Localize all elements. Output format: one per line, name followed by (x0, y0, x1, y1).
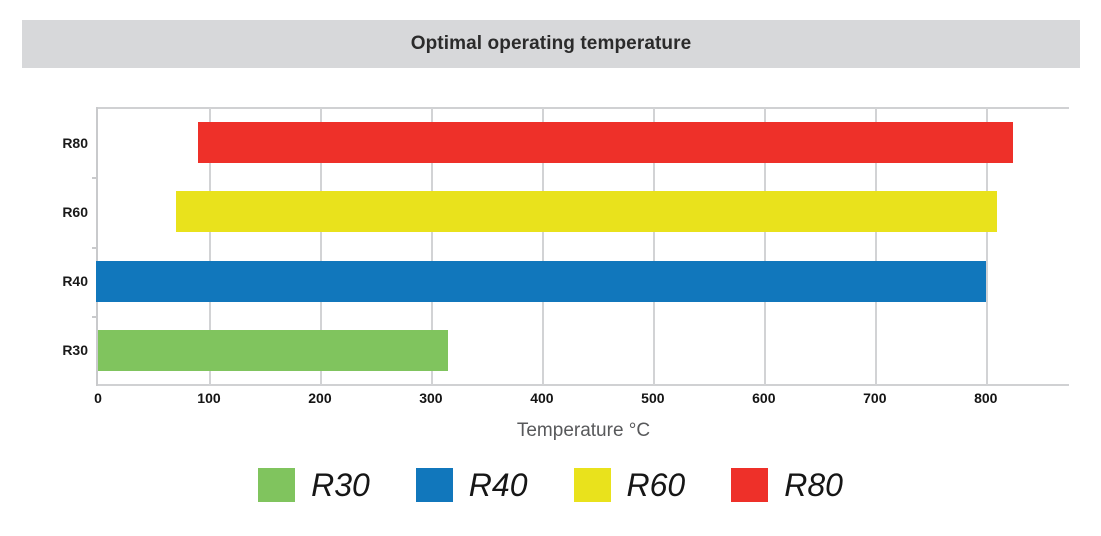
x-tick-label-400: 400 (530, 390, 553, 406)
legend-swatch-R60 (574, 468, 611, 502)
y-axis-tick (92, 177, 98, 179)
chart-title: Optimal operating temperature (411, 33, 692, 55)
x-tick-label-100: 100 (197, 390, 220, 406)
bar-chart: R80R60R40R30 0100200300400500600700800 T… (0, 68, 1101, 536)
legend-label-R30: R30 (311, 469, 370, 501)
y-axis-label-R60: R60 (0, 204, 88, 220)
legend-item-R60[interactable]: R60 (574, 468, 686, 502)
x-axis-title: Temperature °C (98, 420, 1069, 442)
x-tick-label-700: 700 (863, 390, 886, 406)
plot-area (98, 108, 1069, 385)
chart-legend: R30R40R60R80 (0, 468, 1101, 502)
legend-item-R40[interactable]: R40 (416, 468, 528, 502)
legend-swatch-R40 (416, 468, 453, 502)
x-tick-label-200: 200 (308, 390, 331, 406)
x-tick-label-0: 0 (94, 390, 102, 406)
x-tick-label-300: 300 (419, 390, 442, 406)
legend-item-R30[interactable]: R30 (258, 468, 370, 502)
bar-R30[interactable] (98, 330, 448, 371)
legend-label-R60: R60 (627, 469, 686, 501)
y-axis-category-labels: R80R60R40R30 (0, 108, 88, 385)
legend-swatch-R30 (258, 468, 295, 502)
chart-title-band: Optimal operating temperature (22, 20, 1080, 68)
x-axis-tick-labels: 0100200300400500600700800 (0, 390, 1101, 414)
legend-label-R80: R80 (784, 469, 843, 501)
y-axis-label-R30: R30 (0, 342, 88, 358)
legend-label-R40: R40 (469, 469, 528, 501)
bar-R60[interactable] (176, 191, 997, 232)
y-axis-label-R40: R40 (0, 273, 88, 289)
legend-item-R80[interactable]: R80 (731, 468, 843, 502)
y-axis-tick (92, 316, 98, 318)
bar-R40[interactable] (96, 261, 986, 302)
bar-R80[interactable] (198, 122, 1014, 163)
x-tick-label-600: 600 (752, 390, 775, 406)
legend-swatch-R80 (731, 468, 768, 502)
x-tick-label-800: 800 (974, 390, 997, 406)
y-axis-label-R80: R80 (0, 135, 88, 151)
x-tick-label-500: 500 (641, 390, 664, 406)
y-axis-tick (92, 247, 98, 249)
